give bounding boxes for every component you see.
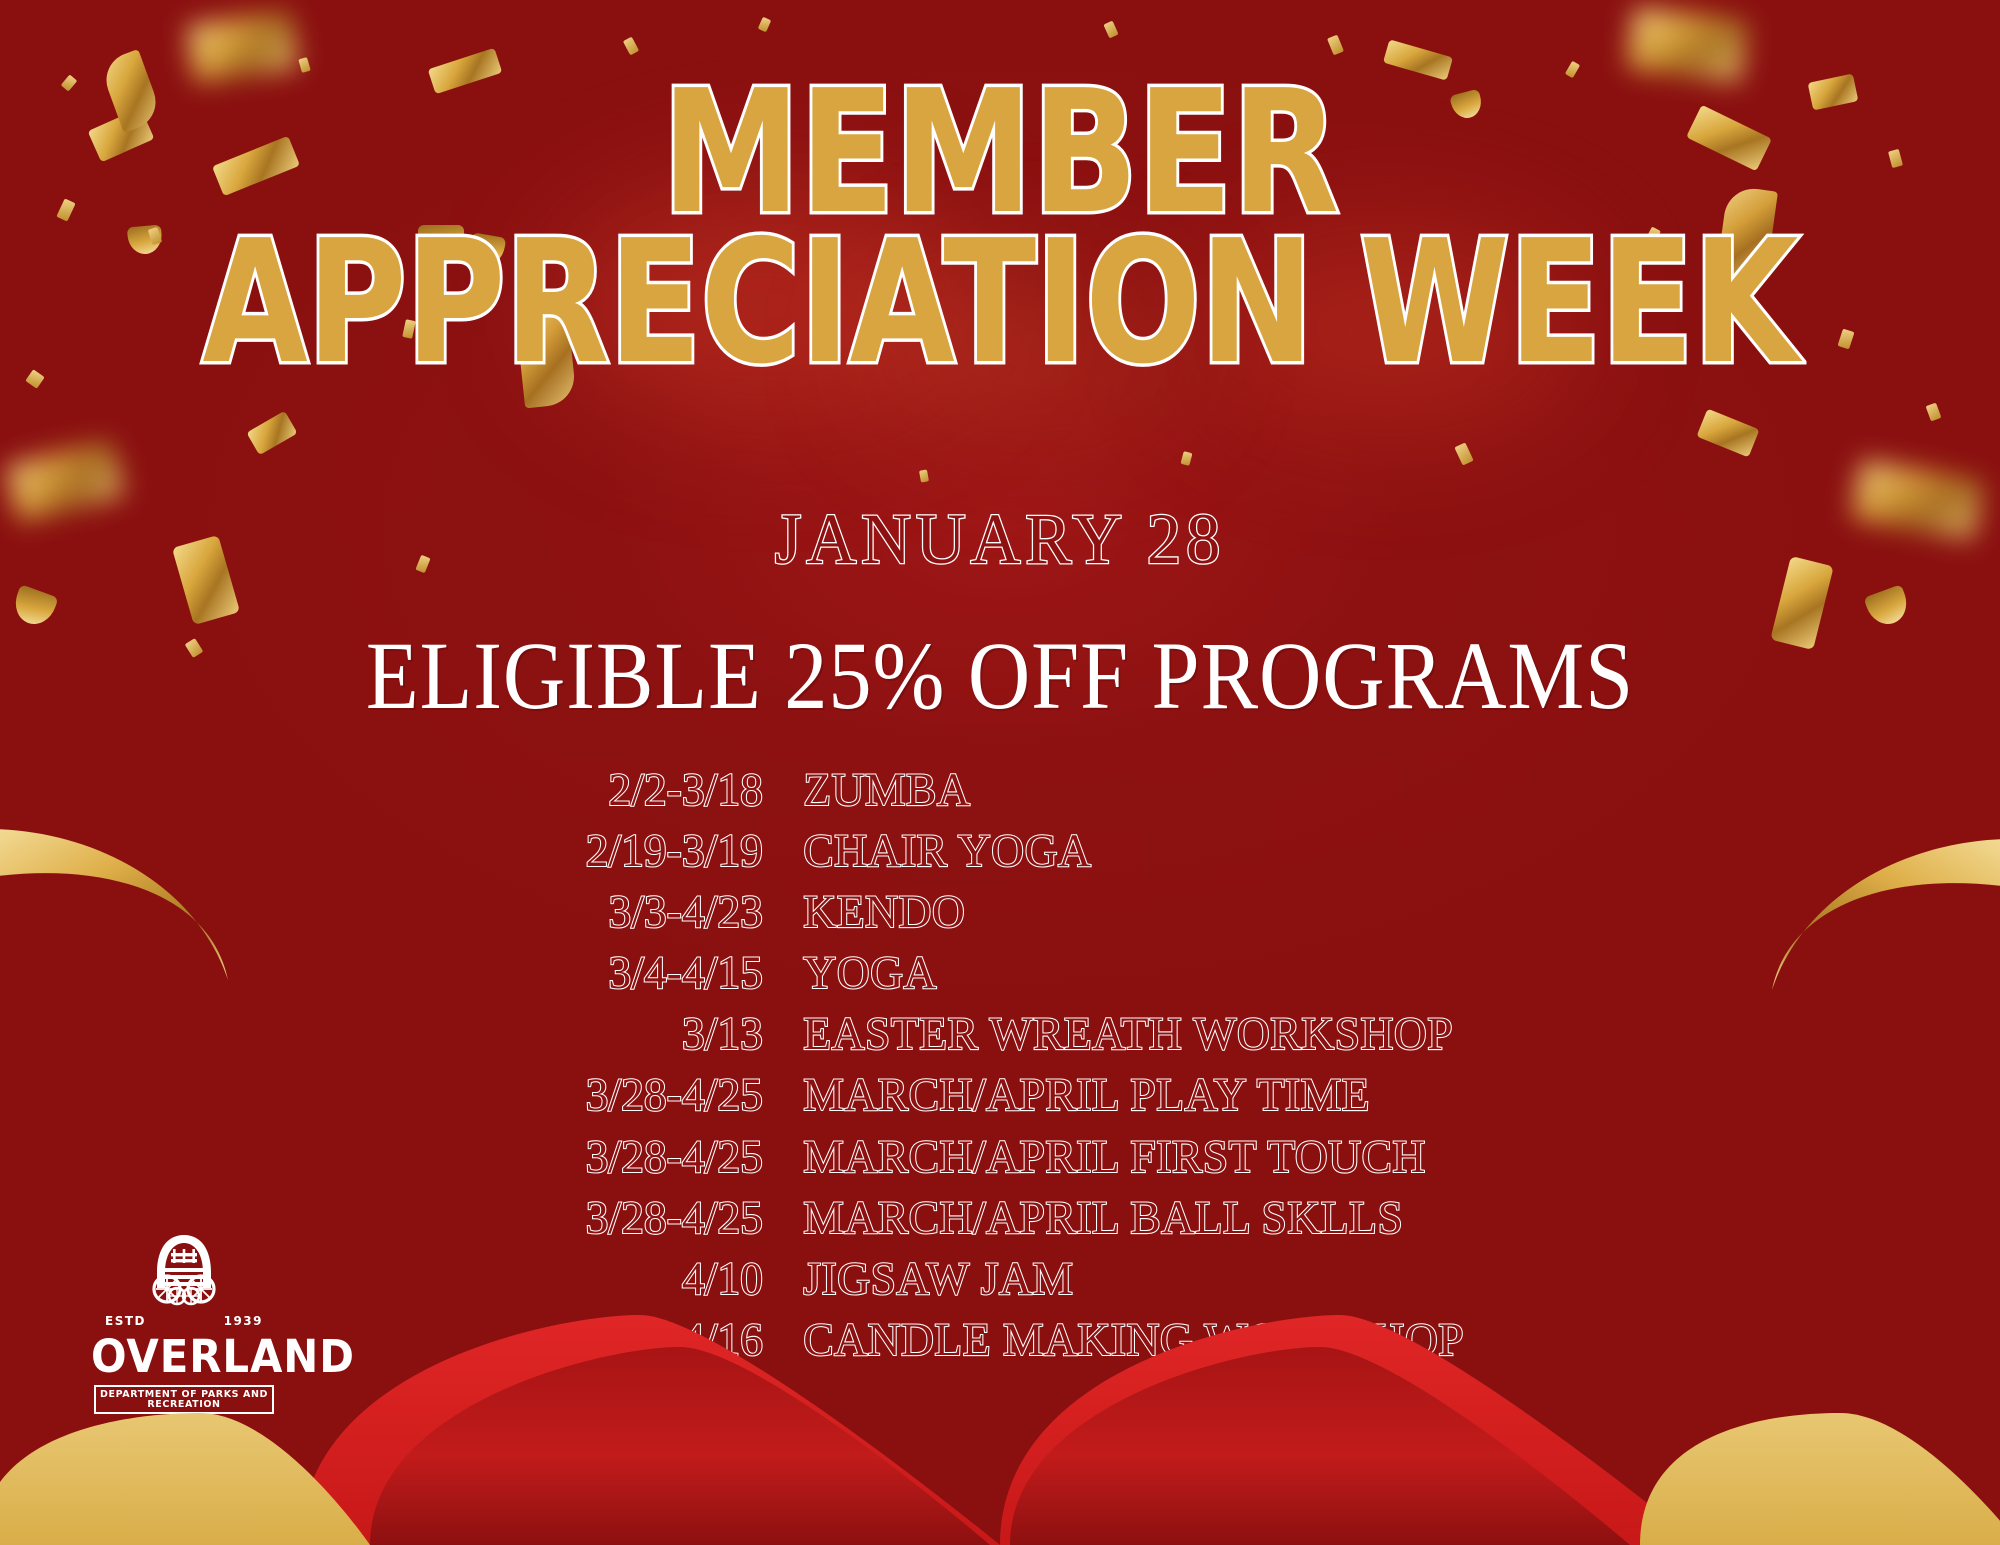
section-heading: ELIGIBLE 25% OFF PROGRAMS	[100, 620, 1900, 731]
program-row: 4/16CANDLE MAKING WORKSHOP	[495, 1310, 1505, 1371]
headline-block: MEMBER APPRECIATION WEEK	[0, 74, 2000, 384]
gold-confetti	[246, 411, 297, 456]
covered-wagon-icon	[141, 1232, 227, 1312]
gold-confetti	[1327, 35, 1344, 56]
gold-confetti	[1103, 21, 1118, 39]
program-date: 3/13	[499, 1004, 763, 1065]
program-name: JIGSAW JAM	[778, 1249, 1494, 1310]
event-date: JANUARY 28	[40, 498, 1960, 581]
program-date: 3/4-4/15	[499, 943, 763, 1004]
program-date: 3/28-4/25	[499, 1188, 763, 1249]
subtitle-block: JANUARY 28	[0, 498, 2000, 581]
overland-logo: ESTD 1939 OVERLAND DEPARTMENT OF PARKS A…	[84, 1232, 284, 1414]
program-name: MARCH/APRIL BALL SKLLS	[778, 1188, 1494, 1249]
gold-confetti	[1454, 442, 1473, 465]
program-row: 3/28-4/25MARCH/APRIL BALL SKLLS	[495, 1188, 1505, 1249]
gold-confetti	[758, 17, 772, 33]
program-row: 2/19-3/19CHAIR YOGA	[495, 821, 1505, 882]
logo-estd-label: ESTD	[105, 1314, 146, 1328]
program-name: YOGA	[778, 943, 1494, 1004]
program-date: 4/16	[499, 1310, 763, 1371]
gold-confetti	[1180, 451, 1192, 466]
program-date: 4/10	[499, 1249, 763, 1310]
program-list: 2/2-3/18ZUMBA2/19-3/19CHAIR YOGA3/3-4/23…	[0, 760, 2000, 1371]
program-date: 3/28-4/25	[499, 1127, 763, 1188]
program-row: 3/4-4/15YOGA	[495, 943, 1505, 1004]
program-name: MARCH/APRIL PLAY TIME	[778, 1065, 1494, 1126]
program-date: 3/28-4/25	[499, 1065, 763, 1126]
gold-confetti	[186, 11, 298, 83]
program-row: 2/2-3/18ZUMBA	[495, 760, 1505, 821]
headline-line-2: APPRECIATION WEEK	[200, 224, 1800, 384]
program-row: 3/28-4/25MARCH/APRIL FIRST TOUCH	[495, 1127, 1505, 1188]
gold-confetti	[298, 57, 311, 73]
gold-confetti	[919, 469, 929, 482]
program-name: MARCH/APRIL FIRST TOUCH	[778, 1127, 1494, 1188]
logo-department: DEPARTMENT OF PARKS AND RECREATION	[94, 1385, 274, 1414]
program-name: CHAIR YOGA	[778, 821, 1494, 882]
program-name: KENDO	[778, 882, 1494, 943]
program-date: 3/3-4/23	[499, 882, 763, 943]
program-name: EASTER WREATH WORKSHOP	[778, 1004, 1494, 1065]
program-name: CANDLE MAKING WORKSHOP	[778, 1310, 1494, 1371]
program-date: 2/2-3/18	[499, 760, 763, 821]
program-row: 3/13EASTER WREATH WORKSHOP	[495, 1004, 1505, 1065]
section-heading-block: ELIGIBLE 25% OFF PROGRAMS	[0, 620, 2000, 731]
logo-year: 1939	[224, 1314, 263, 1328]
program-row: 3/3-4/23KENDO	[495, 882, 1505, 943]
promotional-flyer: MEMBER APPRECIATION WEEK JANUARY 28 ELIG…	[0, 0, 2000, 1545]
gold-confetti	[1696, 409, 1759, 458]
program-row: 3/28-4/25MARCH/APRIL PLAY TIME	[495, 1065, 1505, 1126]
gold-confetti	[1627, 7, 1749, 83]
gold-confetti	[1926, 403, 1942, 422]
program-date: 2/19-3/19	[499, 821, 763, 882]
logo-wordmark: OVERLAND	[91, 1334, 277, 1379]
gold-confetti	[623, 37, 639, 56]
program-row: 4/10JIGSAW JAM	[495, 1249, 1505, 1310]
program-name: ZUMBA	[778, 760, 1494, 821]
